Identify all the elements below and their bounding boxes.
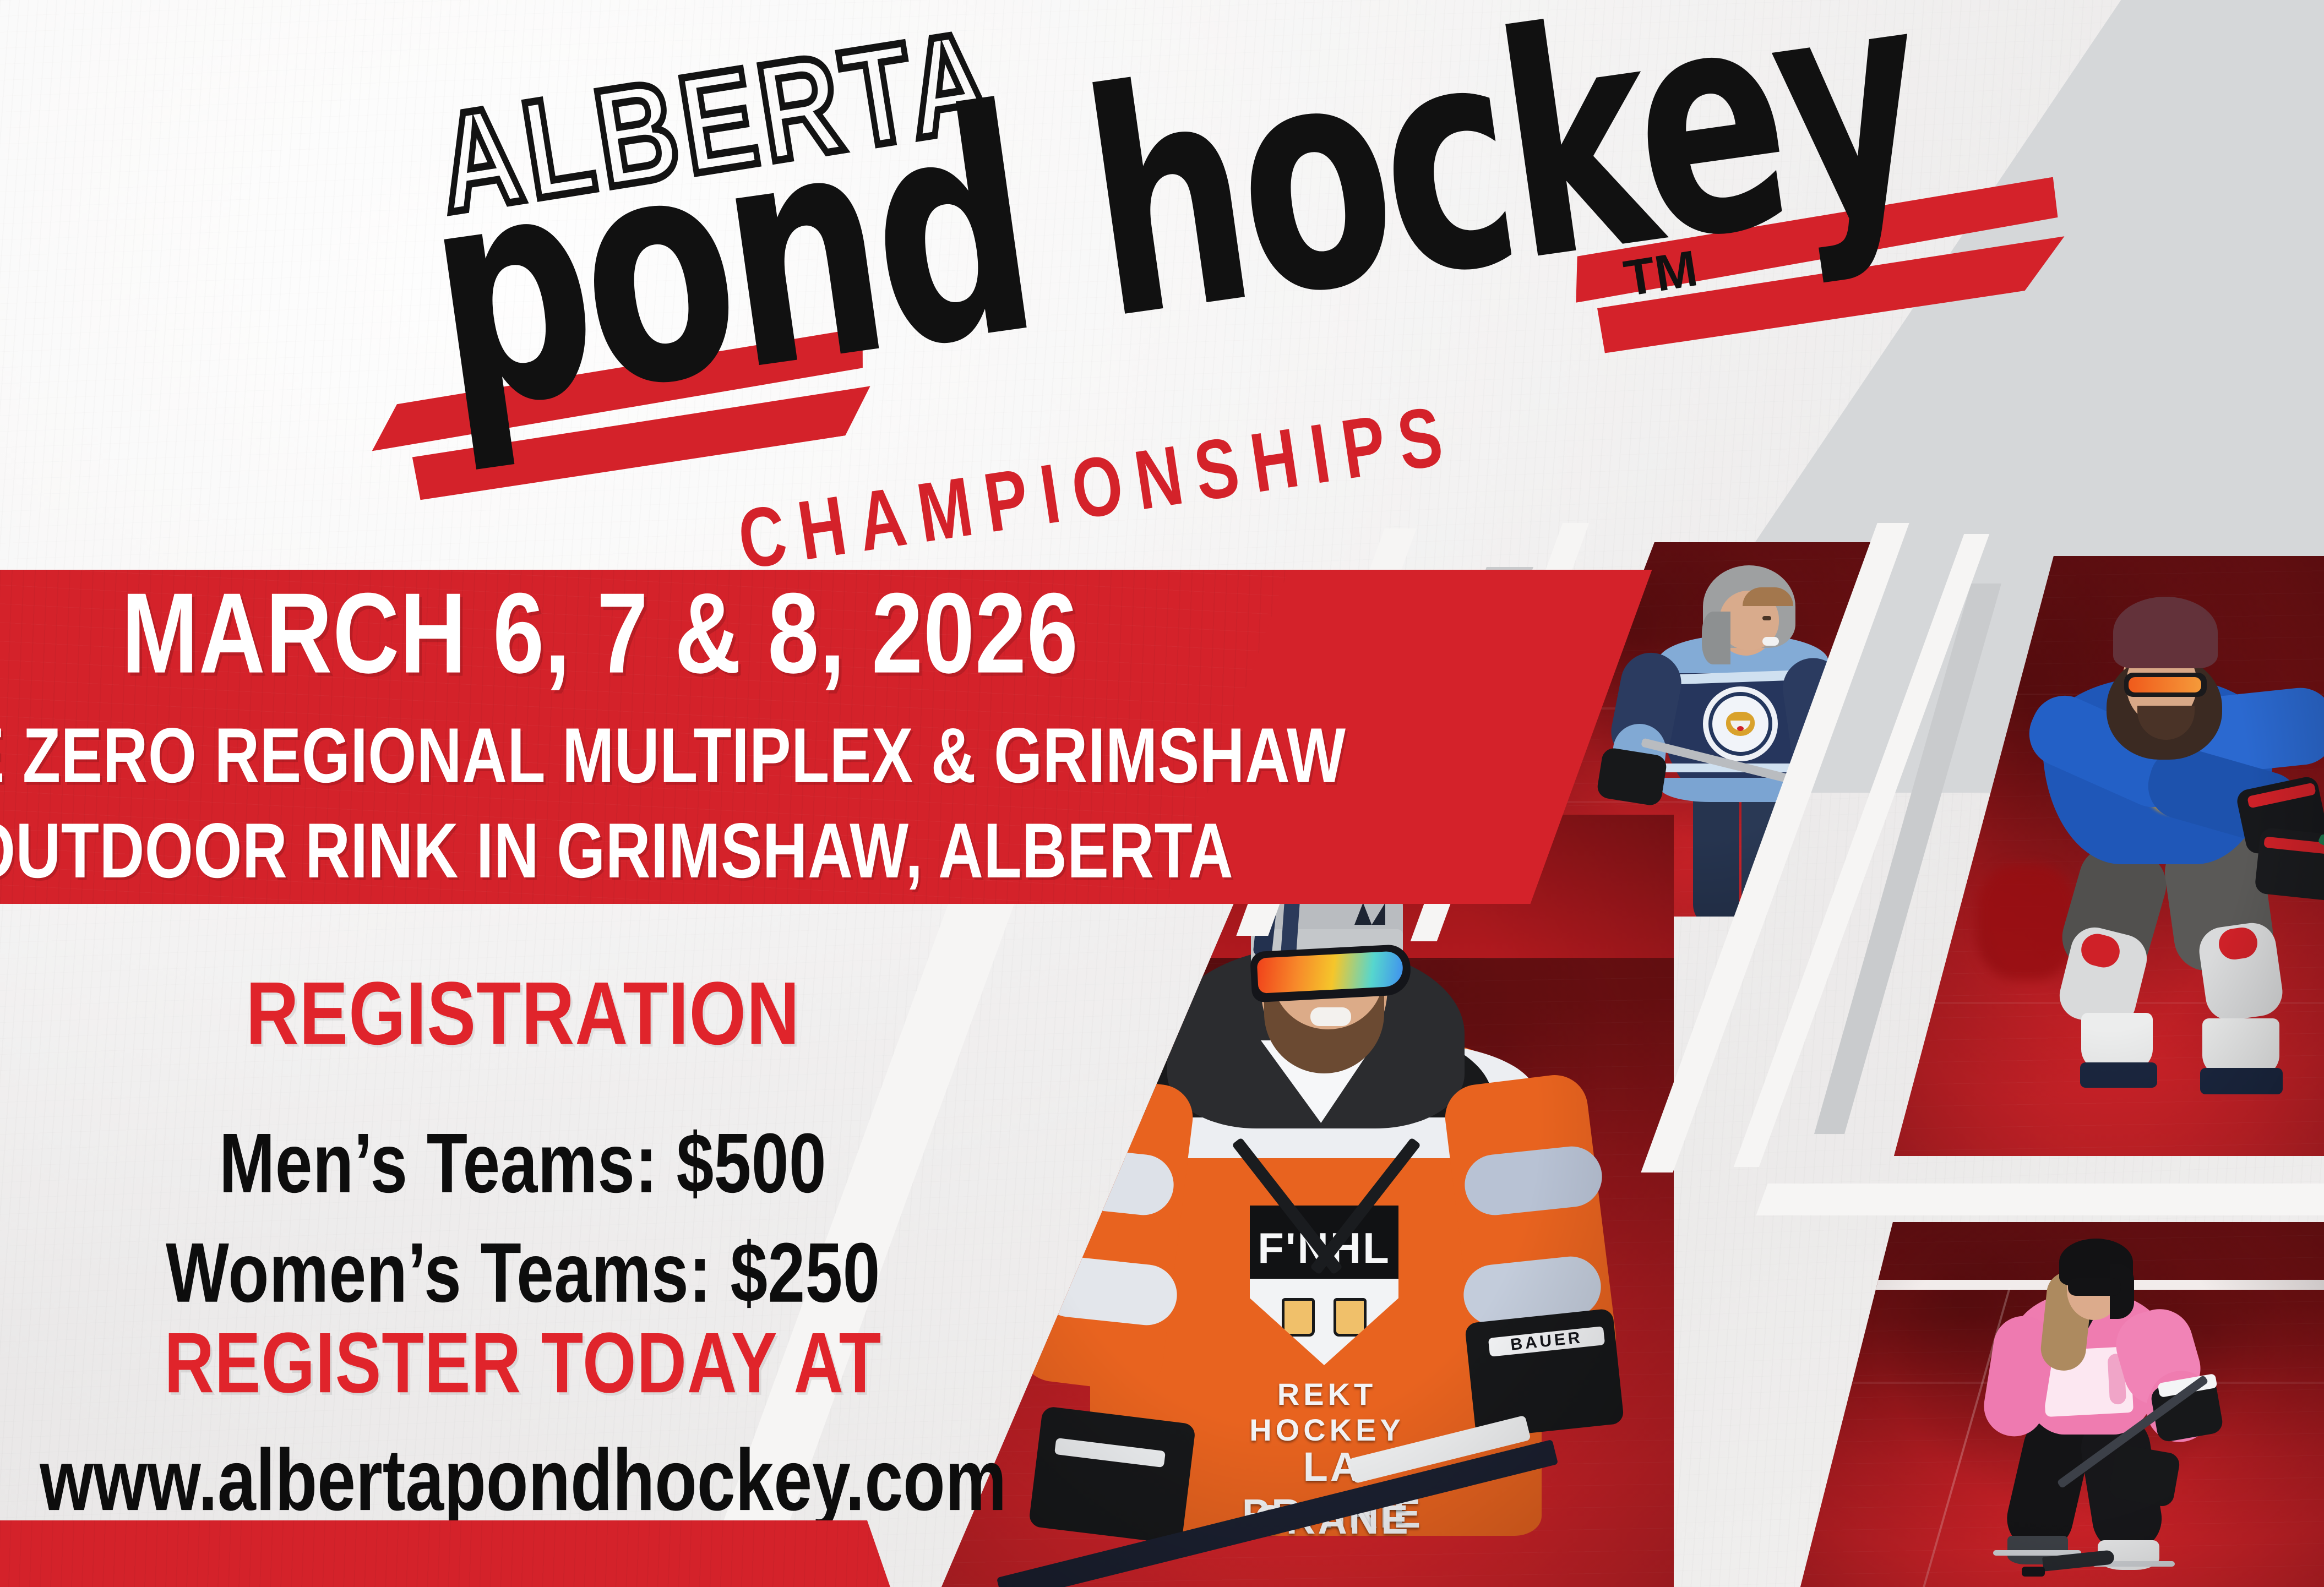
jersey-sponsor-line-2: CRANE (1250, 1496, 1415, 1543)
info-band-text: MARCH 6, 7 & 8, 2026 MILE ZERO REGIONAL … (0, 570, 1200, 904)
bottom-red-stripe (0, 1520, 892, 1587)
registration-price-womens: Women’s Teams: $250 (166, 1224, 880, 1321)
stripe-texture (0, 1520, 892, 1587)
event-logo: ALBERTA pond hockey TM CHAMPIONSHIPS (429, 96, 2026, 553)
registration-website-link[interactable]: www.albertapondhockey.com (40, 1430, 1006, 1530)
logo-trademark-symbol: TM (1620, 239, 1702, 308)
rink-backdrop (1800, 1222, 2324, 1587)
jersey-sponsor-line-1: LA PRAIRIE (1239, 1443, 1426, 1537)
glove-brand-label: BAUER (1488, 1326, 1605, 1357)
registration-heading: REGISTRATION (246, 962, 800, 1065)
call-to-action-heading: REGISTER TODAY AT (165, 1313, 882, 1411)
panel-separator (1756, 1184, 2324, 1215)
jersey-crest-hookers-slashers (2042, 1346, 2133, 1417)
registration-section: REGISTRATION Men’s Teams: $500 Women’s T… (0, 969, 1046, 1313)
event-venue-line-2: OUTDOOR RINK IN GRIMSHAW, ALBERTA (0, 806, 1233, 897)
jersey-team-name: REKT HOCKEY (1228, 1376, 1426, 1448)
event-venue-line-1: MILE ZERO REGIONAL MULTIPLEX & GRIMSHAW (0, 711, 1346, 801)
event-date: MARCH 6, 7 & 8, 2026 (122, 576, 1079, 692)
registration-price-mens: Men’s Teams: $500 (219, 1115, 826, 1212)
jersey-crest-fnhl: F'NHL (1250, 1206, 1398, 1365)
call-to-action-section: REGISTER TODAY AT www.albertapondhockey.… (0, 1321, 1046, 1521)
photo-pink-jersey-player (1800, 1222, 2324, 1587)
poster-canvas: F'NHL REKT HOCKEY LA PRAIRIE CRANE (0, 0, 2324, 1587)
